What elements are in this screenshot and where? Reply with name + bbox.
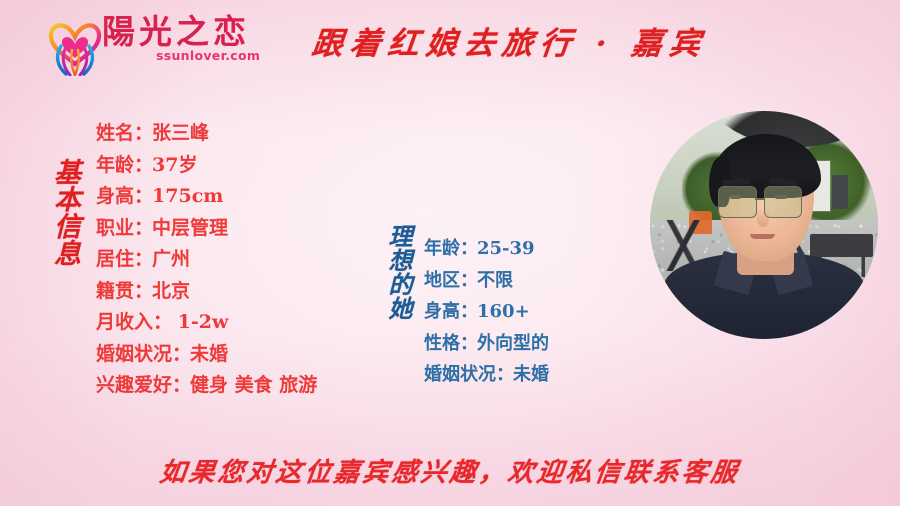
page-title: 跟着红娘去旅行 · 嘉宾: [298, 18, 723, 63]
info-separator: ：: [134, 248, 152, 270]
guest-portrait-photo: [650, 111, 878, 339]
brand-logo-text: 陽光之恋 ssunlover.com: [102, 11, 274, 75]
photo-speaker: [832, 175, 848, 209]
info-separator: ：: [153, 311, 171, 333]
info-separator: ：: [134, 185, 152, 207]
guest-profile-poster: 陽光之恋 ssunlover.com 跟着红娘去旅行 · 嘉宾 基本信息 姓名：…: [0, 0, 900, 506]
info-key: 性格: [424, 333, 460, 354]
footer-call-to-action: 如果您对这位嘉宾感兴趣，欢迎私信联系客服: [0, 452, 900, 489]
info-key: 姓名: [96, 122, 134, 144]
info-value: 25-39: [477, 238, 535, 259]
info-separator: ：: [172, 343, 190, 365]
photo-mouth: [750, 234, 775, 239]
basic-info-list: 姓名：张三峰 年龄：37岁 身高：175cm 职业：中层管理 居住：广州 籍贯：…: [96, 118, 317, 402]
info-value: 北京: [152, 280, 190, 302]
info-value: 张三峰: [152, 122, 209, 144]
ideal-row-age: 年龄：25-39: [424, 233, 549, 265]
info-row-hometown: 籍贯：北京: [96, 276, 317, 308]
heart-wings-logo-icon: [44, 12, 106, 76]
brand-url: ssunlover.com: [156, 48, 260, 63]
info-separator: ：: [496, 364, 513, 385]
brand-logo[interactable]: 陽光之恋 ssunlover.com: [44, 10, 274, 78]
photo-glasses-bridge: [755, 198, 764, 200]
info-value: 160+: [477, 301, 530, 322]
photo-camp-table: [810, 234, 874, 257]
basic-info-section-label: 基本信息: [42, 158, 86, 266]
info-row-marital-status: 婚姻状况：未婚: [96, 339, 317, 371]
info-row-height: 身高：175cm: [96, 181, 317, 213]
info-value: 不限: [477, 270, 513, 291]
info-row-name: 姓名：张三峰: [96, 118, 317, 150]
info-key: 居住: [96, 248, 134, 270]
info-key: 年龄: [424, 238, 460, 259]
info-key: 地区: [424, 270, 460, 291]
brand-name-cn: 陽光之恋: [102, 11, 250, 53]
info-value: 中层管理: [152, 217, 228, 239]
ideal-row-region: 地区：不限: [424, 265, 549, 297]
info-value: 健身 美食 旅游: [190, 374, 317, 396]
photo-nose: [757, 209, 768, 227]
info-value: 175cm: [152, 185, 223, 207]
info-value: 未婚: [513, 364, 549, 385]
info-separator: ：: [460, 301, 477, 322]
photo-glasses-lens-right: [764, 186, 802, 218]
info-key: 婚姻状况: [96, 343, 172, 365]
info-row-hobbies: 兴趣爱好：健身 美食 旅游: [96, 370, 317, 402]
info-key: 婚姻状况: [424, 364, 496, 385]
info-value: 未婚: [190, 343, 228, 365]
info-separator: ：: [460, 270, 477, 291]
ideal-row-marital-status: 婚姻状况：未婚: [424, 359, 549, 391]
ideal-row-height: 身高：160+: [424, 296, 549, 328]
info-separator: ：: [460, 238, 477, 259]
info-row-occupation: 职业：中层管理: [96, 213, 317, 245]
info-key: 兴趣爱好: [96, 374, 172, 396]
info-separator: ：: [134, 280, 152, 302]
info-value: 外向型的: [477, 333, 549, 354]
ideal-partner-section-label: 理想的她: [378, 224, 418, 320]
info-separator: ：: [134, 122, 152, 144]
info-value: 37岁: [152, 154, 197, 176]
info-row-income: 月收入： 1-2w: [96, 307, 317, 339]
info-separator: ：: [134, 154, 152, 176]
info-row-residence: 居住：广州: [96, 244, 317, 276]
info-key: 身高: [424, 301, 460, 322]
info-key: 职业: [96, 217, 134, 239]
ideal-partner-list: 年龄：25-39 地区：不限 身高：160+ 性格：外向型的 婚姻状况：未婚: [424, 233, 549, 391]
info-key: 身高: [96, 185, 134, 207]
info-separator: ：: [134, 217, 152, 239]
info-separator: ：: [460, 333, 477, 354]
info-separator: ：: [172, 374, 190, 396]
ideal-row-personality: 性格：外向型的: [424, 328, 549, 360]
info-row-age: 年龄：37岁: [96, 150, 317, 182]
info-key: 年龄: [96, 154, 134, 176]
photo-glasses-lens-left: [718, 186, 756, 218]
info-value: 1-2w: [171, 311, 228, 333]
info-key: 籍贯: [96, 280, 134, 302]
info-value: 广州: [152, 248, 190, 270]
info-key: 月收入: [96, 311, 153, 333]
